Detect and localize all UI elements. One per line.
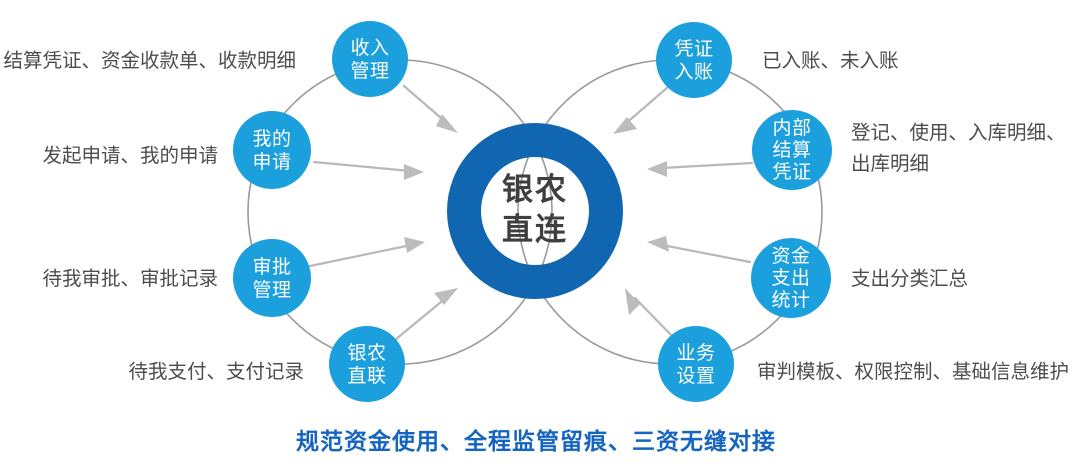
label-bank-farmer-direct: 待我支付、支付记录	[128, 361, 304, 383]
node-business-settings[interactable]: 业务 设置	[658, 326, 734, 402]
node-label-line3: 凭证	[772, 161, 811, 183]
label-internal-settlement-line1: 登记、使用、入库明细、	[851, 122, 1066, 144]
node-income-management[interactable]: 收入 管理	[332, 21, 408, 97]
node-label-line2: 支出	[771, 267, 810, 289]
flow-diagram: 银农 直连 收入 管理 我的 申请 审批 管理 银农 直联 凭证 入账	[0, 0, 1072, 471]
node-label-line2: 结算	[772, 139, 811, 161]
node-label-line1: 审批	[252, 256, 291, 278]
node-label-line2: 管理	[252, 279, 291, 301]
node-circle[interactable]	[332, 21, 408, 97]
arrow-approval-to-hub	[310, 237, 425, 266]
node-circle[interactable]	[658, 326, 734, 402]
node-label-line2: 直联	[347, 365, 386, 387]
diagram-canvas: 银农 直连 收入 管理 我的 申请 审批 管理 银农 直联 凭证 入账	[0, 0, 1072, 471]
node-label-line2: 设置	[676, 365, 715, 387]
node-label-line1: 我的	[252, 128, 291, 150]
node-label-line3: 统计	[771, 289, 810, 311]
node-approval-management[interactable]: 审批 管理	[233, 239, 311, 317]
label-voucher-entry: 已入账、未入账	[762, 50, 899, 72]
node-label-line1: 银农	[347, 342, 386, 364]
label-internal-settlement-line2: 出库明细	[851, 153, 929, 175]
arrow-group-right	[613, 87, 752, 340]
hub-group: 银农 直连	[464, 140, 606, 282]
hub-title-line2: 直连	[502, 212, 568, 247]
label-my-application: 发起申请、我的申请	[42, 145, 218, 167]
node-circle[interactable]	[656, 22, 732, 98]
caption: 规范资金使用、全程监管留痕、三资无缝对接	[296, 428, 776, 454]
arrow-business-settings-to-hub	[625, 288, 676, 340]
node-bank-farmer-direct[interactable]: 银农 直联	[329, 326, 405, 402]
node-circle[interactable]	[233, 239, 311, 317]
node-circle[interactable]	[233, 111, 311, 189]
node-voucher-entry[interactable]: 凭证 入账	[656, 22, 732, 98]
node-circle[interactable]	[329, 326, 405, 402]
label-fund-expenditure: 支出分类汇总	[851, 268, 968, 290]
hub-ring	[464, 140, 606, 282]
arrow-bank-direct-to-hub	[395, 288, 458, 340]
label-income-management: 结算凭证、资金收款单、收款明细	[3, 50, 296, 72]
node-label-line1: 内部	[772, 117, 811, 139]
label-approval-management: 待我审批、审批记录	[42, 268, 218, 290]
node-label-line1: 业务	[676, 342, 715, 364]
node-internal-settlement-voucher[interactable]: 内部 结算 凭证	[752, 110, 832, 190]
arrow-my-application-to-hub	[314, 162, 424, 180]
arrow-income-to-hub	[404, 86, 458, 133]
node-label-line1: 收入	[350, 37, 389, 59]
node-label-line2: 申请	[252, 151, 291, 173]
hub-title-line1: 银农	[502, 172, 568, 207]
arrow-fund-expenditure-to-hub	[647, 236, 750, 262]
node-my-application[interactable]: 我的 申请	[233, 111, 311, 189]
node-label-line1: 凭证	[674, 38, 713, 60]
node-label-line1: 资金	[771, 245, 810, 267]
node-label-line2: 管理	[350, 60, 389, 82]
arrow-internal-settlement-to-hub	[647, 161, 752, 177]
arrow-voucher-entry-to-hub	[613, 87, 668, 134]
arrow-group-left	[310, 86, 458, 340]
node-label-line2: 入账	[674, 61, 713, 83]
node-fund-expenditure-statistics[interactable]: 资金 支出 统计	[751, 238, 831, 318]
label-business-settings: 审判模板、权限控制、基础信息维护	[757, 361, 1069, 383]
